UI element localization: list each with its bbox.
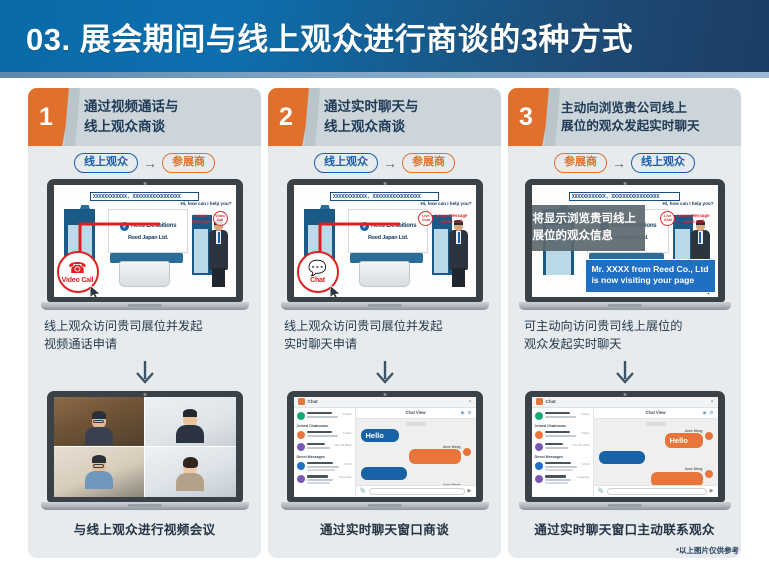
chat-thread-panel: Chat View ◉ ⚙ [594,408,718,497]
booth-action-badges: Live Chat Leave Message Video Call [418,211,467,226]
chat-thread-header: Chat View ◉ ⚙ [594,408,718,419]
arrow-down-icon [132,360,158,386]
card-3-booth-screen: XXXXXXXXXXXX, XXXXXXXXXXXXXXXXX e Reed E… [532,185,718,297]
list-item-time: Friday [581,412,589,416]
booth-topbar-text: XXXXXXXXXXXX, XXXXXXXXXXXXXXXXX [331,194,421,200]
close-icon[interactable]: × [711,399,714,405]
video-participant-grid [54,397,236,497]
attachment-icon[interactable]: 📎 [598,488,604,494]
list-item-time: Nov 28 2020 [572,443,589,447]
booth-greeting-tooltip: Hi, how can I help you? [662,201,713,206]
list-item[interactable]: 16:39 [532,460,593,473]
chat-date-chip [646,422,666,426]
method-card-1: 1 通过视频通话与 线上观众商谈 线上观众 → 参展商 XXXXXXXXXXXX… [28,88,261,558]
list-item-time: Friday [343,431,351,435]
card-1-result-laptop [47,391,243,510]
card-3-role-flow: 参展商 → 线上观众 [508,150,741,176]
list-item[interactable]: Yesterday [532,473,593,486]
booth-logo-text: Reed Exhibitions [371,223,416,229]
chat-bubble-incoming [599,451,645,464]
avatar [297,462,305,470]
chat-message-list[interactable]: Hello Anne Wong [356,419,476,485]
arrow-down-icon [612,360,638,386]
chat-input-bar[interactable]: 📎 ▶ [594,485,718,497]
booth-logo-panel: e Reed Exhibitions Reed Japan Ltd. [108,209,188,253]
chat-thread-title: Chat View [406,410,426,415]
chat-message-row: Hello [361,429,471,442]
card-1-booth-laptop: XXXXXXXXXXXX, XXXXXXXXXXXXXXXXX e Reed E… [47,179,243,310]
chat-bubble-incoming [361,467,407,480]
reed-logo-icon: e [120,222,129,231]
mouse-cursor-icon [330,285,344,297]
arrow-down-icon [372,360,398,386]
chat-thread-title: Chat View [646,410,666,415]
chat-bubble-outgoing [409,449,461,464]
booth-action-badges: Leave Message Video Call [192,211,228,226]
card-2-role-to: 参展商 [402,153,455,172]
method-card-2: 2 通过实时聊天与 线上观众商谈 线上观众 → 参展商 XXXXXXXXXXXX… [268,88,501,558]
video-tile-2 [145,397,235,446]
list-item[interactable]: 16:39 [294,460,355,473]
card-2-down-arrow [268,360,501,386]
booth-topbar: XXXXXXXXXXXX, XXXXXXXXXXXXXXXXX [569,192,681,201]
booth-topbar-text: XXXXXXXXXXXX, XXXXXXXXXXXXXXXXX [570,194,660,200]
avatar [297,443,305,451]
card-3-title: 主动向浏览贵公司线上 展位的观众发起实时聊天 [552,99,700,136]
card-2-role-from: 线上观众 [314,153,378,172]
list-item[interactable]: Nov 28 2020 [294,441,355,453]
card-1-role-flow: 线上观众 → 参展商 [28,150,261,176]
chat-input-field[interactable] [607,488,707,495]
footnote: *以上图片仅供参考 [676,545,739,556]
chat-bubble-outgoing [651,472,703,485]
booth-panel-right [194,229,209,273]
list-item-time: 16:39 [582,462,590,466]
chat-message-row: Anne Wong [599,467,713,485]
card-1-booth-screen: XXXXXXXXXXXX, XXXXXXXXXXXXXXXXX e Reed E… [54,185,236,297]
chat-sender-name: Anne Wong [443,445,461,449]
booth-logo-sub: Reed Japan Ltd. [368,235,408,241]
send-icon[interactable]: ▶ [468,488,472,494]
card-2-step-text: 线上观众访问贵司展位并发起 实时聊天申请 [268,310,501,354]
chat-message-row [361,467,471,480]
video-icon[interactable]: ◉ [461,410,465,416]
card-1-title: 通过视频通话与 线上观众商谈 [72,97,179,136]
booth-leave-message-label: Leave Message Video Call [435,213,467,223]
avatar [297,431,305,439]
booth-leave-message-label: Leave Message [192,213,211,223]
chat-application: Chat × Friday Joined Chatrooms [294,397,476,497]
chat-message-row: Anne Wong Hello [599,429,713,449]
chat-section-label: Direct Messages [532,453,593,460]
avatar [297,475,305,483]
card-1-step-text: 线上观众访问贵司展位并发起 视频通话申请 [28,310,261,354]
booth-logo-panel: e Reed Exhibitions Reed Japan Ltd. [348,209,428,253]
card-1-down-arrow [28,360,261,386]
card-1-role-from: 线上观众 [74,153,138,172]
avatar [535,431,543,439]
card-2-result-laptop: Chat × Friday Joined Chatrooms [287,391,483,510]
card-2-booth-screen: XXXXXXXXXXXX, XXXXXXXXXXXXXXXXX e Reed E… [294,185,476,297]
avatar [535,412,543,420]
send-icon[interactable]: ▶ [710,488,714,494]
booth-staff-avatar [208,221,230,287]
avatar [463,448,471,456]
chat-message-list[interactable]: Anne Wong Hello [594,419,718,485]
chat-app-title: Chat [308,399,318,404]
card-3-step-text: 可主动向访问贵司线上展位的 观众发起实时聊天 [508,310,741,354]
avatar [705,432,713,440]
chat-window-screen: Chat × Friday Joined Chatrooms [294,397,476,497]
chat-bubble-incoming: Hello [361,429,399,442]
list-item[interactable]: Nov 28 2020 [532,441,593,453]
chat-contact-list[interactable]: Friday Joined Chatrooms Friday [294,408,356,497]
chat-section-label: Joined Chatrooms [532,422,593,429]
chat-section-label: Direct Messages [294,453,355,460]
list-item-time: Friday [343,412,351,416]
card-3-flow-arrow-icon: → [612,156,626,170]
chat-message-row: Anne Wong [361,445,471,465]
booth-action-badges: Live Chat Leave Message Video Call [660,211,709,226]
booth-video-call-badge: Video Call [213,211,228,226]
card-1-role-to: 参展商 [162,153,215,172]
booth-staff-avatar [448,221,470,287]
chat-contact-list[interactable]: Friday Joined Chatrooms Friday [532,408,594,497]
visitor-info-callout: 将显示浏览贵司线上 展位的观众信息 [532,205,646,251]
list-item-time: Yesterday [576,475,589,479]
chat-section-label: Joined Chatrooms [294,422,355,429]
chat-message-row [599,451,713,464]
chat-sender-name: Anne Wong [685,467,703,471]
booth-greeting-tooltip: Hi, how can I help you? [420,201,471,206]
booth-live-chat-badge: Live Chat [418,211,433,226]
chat-bubble-outgoing: Hello [665,433,703,448]
card-3-booth-laptop: XXXXXXXXXXXX, XXXXXXXXXXXXXXXXX e Reed E… [525,179,725,310]
card-2-role-flow: 线上观众 → 参展商 [268,150,501,176]
chat-thread-panel: Chat View ◉ ⚙ Hello [356,408,476,497]
card-3-role-to: 线上观众 [631,153,695,172]
live-chat-button-label: Chat [310,277,325,284]
attachment-icon[interactable]: 📎 [360,488,366,494]
booth-greeting-tooltip: Hi, how can I help you? [180,201,231,206]
video-icon[interactable]: ◉ [703,410,707,416]
card-1-laptop-lid: XXXXXXXXXXXX, XXXXXXXXXXXXXXXXX e Reed E… [47,179,243,302]
settings-icon[interactable]: ⚙ [709,410,713,416]
settings-icon[interactable]: ⚙ [467,410,471,416]
video-tile-4 [145,447,235,496]
phone-icon: ☎ [68,261,87,276]
booth-topbar: XXXXXXXXXXXX, XXXXXXXXXXXXXXXXX [330,192,439,201]
chat-app-title: Chat [546,399,556,404]
list-item[interactable]: Yesterday [294,473,355,486]
avatar [535,443,543,451]
visitor-notification-tooltip: Mr. XXXX from Reed Co., Ltd is now visit… [585,259,716,293]
reed-logo-icon: e [360,222,369,231]
booth-leave-message-label: Leave Message Video Call [677,213,709,223]
card-2-flow-arrow-icon: → [383,156,397,170]
card-3-result-laptop: Chat × Friday Joined Chatrooms [525,391,725,510]
list-item[interactable]: Friday [532,429,593,441]
avatar [535,475,543,483]
mouse-cursor-icon [90,285,104,297]
method-card-3: 3 主动向浏览贵公司线上 展位的观众发起实时聊天 参展商 → 线上观众 XXXX… [508,88,741,558]
video-conference-screen [54,397,236,497]
card-3-down-arrow [508,360,741,386]
booth-panel-right [434,229,449,273]
list-item[interactable]: Friday [532,410,593,422]
booth-logo-text: Reed Exhibitions [131,223,176,229]
page-title: 03. 展会期间与线上观众进行商谈的3种方式 [0,14,633,59]
card-3-header: 3 主动向浏览贵公司线上 展位的观众发起实时聊天 [508,88,741,146]
card-2-header: 2 通过实时聊天与 线上观众商谈 [268,88,501,146]
booth-logo-sub: Reed Japan Ltd. [128,235,168,241]
avatar [535,462,543,470]
card-3-result-caption: 通过实时聊天窗口主动联系观众 [508,510,741,538]
booth-live-chat-badge: Live Chat [660,211,675,226]
booth-reception-desk [359,261,410,287]
chat-date-chip [406,422,426,426]
video-call-button-label: Video Call [62,277,94,284]
chat-application: Chat × Friday Joined Chatrooms [532,397,718,497]
card-2-result-caption: 通过实时聊天窗口商谈 [268,510,501,538]
page-header: 03. 展会期间与线上观众进行商谈的3种方式 [0,0,769,72]
card-2-title: 通过实时聊天与 线上观众商谈 [312,97,419,136]
chat-app-logo-icon [298,398,305,405]
chat-bubble-icon: 💬 [308,261,327,276]
list-item-time: Friday [581,431,589,435]
chat-window-screen: Chat × Friday Joined Chatrooms [532,397,718,497]
close-icon[interactable]: × [469,399,472,405]
list-item-time: Nov 28 2020 [334,443,351,447]
video-tile-1 [54,397,144,446]
chat-sender-name: Anne Wong [685,429,703,433]
card-1-result-caption: 与线上观众进行视频会议 [28,510,261,538]
chat-thread-header: Chat View ◉ ⚙ [356,408,476,419]
cards-container: 1 通过视频通话与 线上观众商谈 线上观众 → 参展商 XXXXXXXXXXXX… [0,88,769,558]
card-3-role-from: 参展商 [554,153,607,172]
avatar [705,470,713,478]
avatar [297,412,305,420]
chat-titlebar: Chat × [532,397,718,408]
booth-topbar: XXXXXXXXXXXX, XXXXXXXXXXXXXXXXX [90,192,199,201]
list-item-time: 16:39 [344,462,352,466]
header-underline [0,72,769,78]
chat-app-logo-icon [536,398,543,405]
list-item[interactable]: Friday [294,429,355,441]
video-tile-3 [54,447,144,496]
booth-topbar-text: XXXXXXXXXXXX, XXXXXXXXXXXXXXXXX [91,194,181,200]
list-item[interactable]: Friday [294,410,355,422]
chat-input-bar[interactable]: 📎 ▶ [356,485,476,497]
card-1-flow-arrow-icon: → [143,156,157,170]
booth-reception-desk [119,261,170,287]
card-1-laptop-base [41,302,249,310]
card-2-booth-laptop: XXXXXXXXXXXX, XXXXXXXXXXXXXXXXX e Reed E… [287,179,483,310]
chat-input-field[interactable] [369,488,465,495]
list-item-time: Yesterday [338,475,351,479]
card-1-header: 1 通过视频通话与 线上观众商谈 [28,88,261,146]
chat-titlebar: Chat × [294,397,476,408]
